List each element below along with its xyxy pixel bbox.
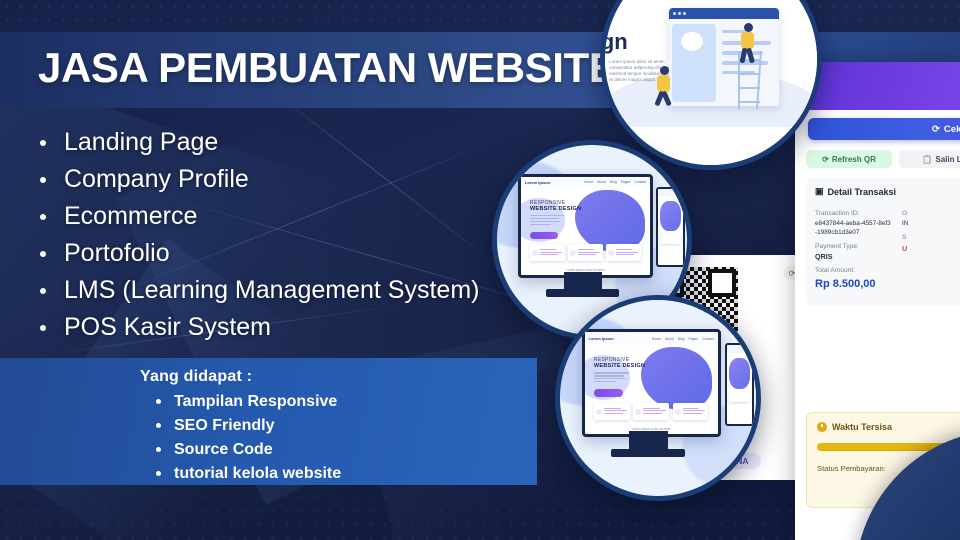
mockup-cta-button xyxy=(594,389,623,396)
order-id-value: IN xyxy=(902,219,960,228)
list-item: Tampilan Responsive xyxy=(150,390,341,414)
monitor-screen-mockup: Lorem Ipsum Home About Blog Pages Contac… xyxy=(518,174,653,279)
detail-column-right: O IN S U xyxy=(902,204,960,292)
detail-column-left: Transaction ID: e8437844-aeba-4557-8ef3-… xyxy=(815,204,892,292)
clock-icon xyxy=(817,422,827,432)
copy-link-button[interactable]: 📋 Salin L xyxy=(899,150,960,168)
transaction-id-value: e8437844-aeba-4557-8ef3-1989cb1d3e07 xyxy=(815,219,892,237)
list-item: Company Profile xyxy=(34,163,479,196)
total-amount-value: Rp 8.500,00 xyxy=(815,277,892,292)
mockup-headline-bold: WEBSITE DESIGN xyxy=(594,363,645,369)
benefits-box: Yang didapat : Tampilan Responsive SEO F… xyxy=(0,358,537,485)
refresh-icon: ⟳ xyxy=(822,155,829,164)
transaction-detail-card: ▣ Detail Transaksi Transaction ID: e8437… xyxy=(806,178,960,306)
list-item: tutorial kelola website xyxy=(150,462,341,486)
tablet-mockup xyxy=(656,187,685,267)
list-item: Ecommerce xyxy=(34,200,479,233)
benefits-list: Tampilan Responsive SEO Friendly Source … xyxy=(150,390,341,486)
mockup-logo: Lorem Ipsum xyxy=(589,336,614,341)
refresh-icon: ⟳ xyxy=(932,124,940,135)
mockup-headline-thin: RESPONSIVE xyxy=(594,357,630,363)
total-amount-label: Total Amount: xyxy=(815,266,892,276)
poster-canvas: JASA PEMBUATAN WEBSITE Landing Page Comp… xyxy=(0,0,960,540)
refresh-qr-button[interactable]: ⟳ Refresh QR xyxy=(806,150,892,168)
monitor-screen-mockup: Lorem Ipsum Home About Blog Pages Contac… xyxy=(582,329,721,437)
mockup-nav: Home About Blog Pages Contact xyxy=(652,337,714,341)
mockup-logo: Lorem Ipsum xyxy=(525,180,550,185)
list-item: POS Kasir System xyxy=(34,311,479,344)
services-list: Landing Page Company Profile Ecommerce P… xyxy=(34,126,479,348)
payment-type-label: Payment Type: xyxy=(815,242,892,252)
bubble-responsive-design-monitor-2: Lorem Ipsum Home About Blog Pages Contac… xyxy=(555,295,761,501)
list-item: Portofolio xyxy=(34,237,479,270)
check-status-button[interactable]: ⟳ Cek Status P xyxy=(808,118,960,140)
status-value: U xyxy=(902,243,960,254)
status-label: S xyxy=(902,233,960,243)
mockup-nav: Home About Blog Pages Contact xyxy=(584,180,646,184)
order-id-label: O xyxy=(902,209,960,219)
bubble-headline: gn xyxy=(601,29,628,55)
list-item: SEO Friendly xyxy=(150,414,341,438)
copy-icon: 📋 xyxy=(922,155,932,164)
copy-link-label: Salin L xyxy=(935,155,960,164)
list-item: LMS (Learning Management System) xyxy=(34,274,479,307)
list-item: Landing Page xyxy=(34,126,479,159)
mockup-headline-bold: WEBSITE DESIGN xyxy=(530,206,581,212)
check-status-label: Cek Status P xyxy=(944,124,960,135)
refresh-qr-label: Refresh QR xyxy=(832,155,876,164)
tablet-mockup xyxy=(725,343,754,425)
page-title: JASA PEMBUATAN WEBSITE xyxy=(38,44,616,92)
receipt-icon: ▣ xyxy=(815,186,824,197)
list-item: Source Code xyxy=(150,438,341,462)
transaction-id-label: Transaction ID: xyxy=(815,209,892,219)
mockup-cta-button xyxy=(530,232,558,239)
payment-type-value: QRIS xyxy=(815,252,892,261)
qr-finder-pattern xyxy=(708,269,736,297)
timer-heading: Waktu Tersisa xyxy=(817,422,960,432)
benefits-title: Yang didapat : xyxy=(140,368,252,386)
transaction-detail-heading: ▣ Detail Transaksi xyxy=(815,186,960,197)
